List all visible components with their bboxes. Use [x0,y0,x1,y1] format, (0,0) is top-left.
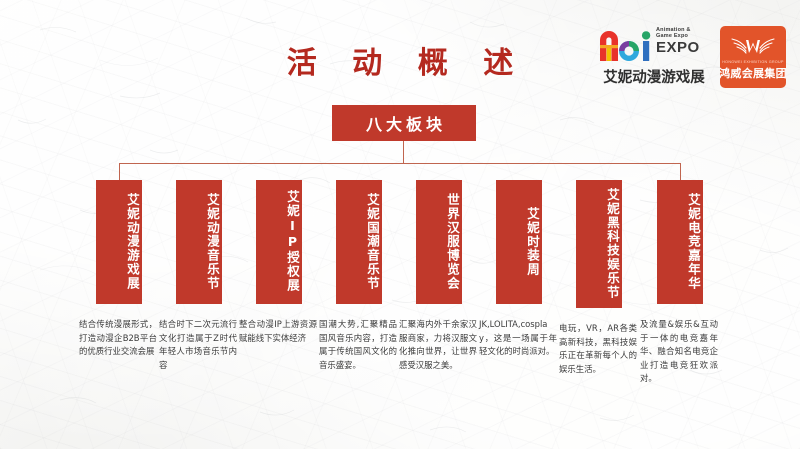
branch-title-3[interactable]: 艾妮IP授权展 [256,180,302,304]
branch-desc-2: 结合时下二次元流行文化打造属于Z时代年轻人市场音乐节内容 [159,318,237,372]
slide-canvas: 活 动 概 述 Ani [0,0,800,449]
branch-column-4: 艾妮国潮音乐节 国潮大势,汇聚精品国风音乐内容，打造属于传统国风文化的音乐盛宴。 [319,180,399,372]
branch-column-7: 艾妮黑科技娱乐节 电玩，VR，AR各类高新科技，黑科技娱乐正在革新每个人的娱乐生… [559,180,639,377]
branch-desc-5: 汇聚海内外千余家汉服商家，力将汉服文化推向世界，让世界感受汉服之美。 [399,318,477,372]
branch-desc-4: 国潮大势,汇聚精品国风音乐内容，打造属于传统国风文化的音乐盛宴。 [319,318,397,372]
branch-title-7[interactable]: 艾妮黑科技娱乐节 [576,180,622,308]
branch-desc-3: 整合动漫IP上游资源赋能线下实体经济 [239,318,317,345]
branch-title-5[interactable]: 世界汉服博览会 [416,180,462,304]
branch-title-4[interactable]: 艾妮国潮音乐节 [336,180,382,304]
branch-column-8: 艾妮电竞嘉年华 及流量&娱乐&互动于一体的电竞嘉年华、融合知名电竞企业打造电竞狂… [640,180,720,386]
branch-column-6: 艾妮时装周 JK,LOLITA,cosplay，这是一场属于年轻文化的时尚派对。 [479,180,559,359]
branch-column-3: 艾妮IP授权展 整合动漫IP上游资源赋能线下实体经济 [239,180,319,345]
branch-column-5: 世界汉服博览会 汇聚海内外千余家汉服商家，力将汉服文化推向世界，让世界感受汉服之… [399,180,479,372]
branch-desc-1: 结合传统漫展形式，打造动漫企B2B平台的优质行业交流会展 [79,318,157,359]
branch-title-8[interactable]: 艾妮电竞嘉年华 [657,180,703,304]
branch-desc-8: 及流量&娱乐&互动于一体的电竞嘉年华、融合知名电竞企业打造电竞狂欢派对。 [640,318,718,386]
branch-desc-7: 电玩，VR，AR各类高新科技，黑科技娱乐正在革新每个人的娱乐生活。 [559,322,637,376]
branch-desc-6: JK,LOLITA,cosplay，这是一场属于年轻文化的时尚派对。 [479,318,557,359]
branch-title-2[interactable]: 艾妮动漫音乐节 [176,180,222,304]
branch-columns: 艾妮动漫游戏展 结合传统漫展形式，打造动漫企B2B平台的优质行业交流会展 艾妮动… [0,0,800,449]
branch-title-1[interactable]: 艾妮动漫游戏展 [96,180,142,304]
branch-title-6[interactable]: 艾妮时装周 [496,180,542,304]
branch-column-1: 艾妮动漫游戏展 结合传统漫展形式，打造动漫企B2B平台的优质行业交流会展 [79,180,159,359]
branch-column-2: 艾妮动漫音乐节 结合时下二次元流行文化打造属于Z时代年轻人市场音乐节内容 [159,180,239,372]
